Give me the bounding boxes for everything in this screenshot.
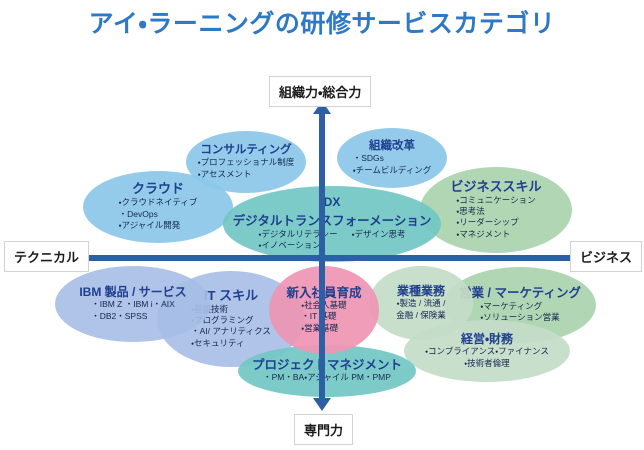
bubble-title: IT スキル — [204, 289, 258, 304]
bubble-item: ・技術者倫理 — [425, 358, 549, 369]
bubble-business-skill[interactable]: ビジネススキル ・コミュニケーション・思考法・リーダーシップ・マネジメント — [420, 167, 572, 253]
bubble-title: クラウド — [132, 182, 184, 197]
bubble-item: ・マーケティング — [480, 301, 559, 312]
diagram-canvas: アイ・ラーニングの研修サービスカテゴリ 組織力・総合力 専門力 テクニカル ビジ… — [0, 0, 644, 450]
bubble-title: IBM 製品 / サービス — [79, 286, 186, 300]
horizontal-axis-line — [40, 255, 598, 261]
bubble-item: ・DevOps — [119, 209, 198, 220]
bubble-item: ・PM・BA・アジャイル PM・PMP — [263, 372, 391, 383]
bubble-item: ・アセスメント — [198, 169, 294, 180]
bubble-item: ・AI/ アナリティクス — [191, 326, 271, 337]
axis-label-left: テクニカル — [4, 241, 89, 272]
bubble-item: ・コミュニケーション — [456, 195, 535, 206]
bubble-item: ・製造 / 流通 / — [396, 298, 446, 309]
arrow-down-icon — [313, 398, 331, 411]
bubble-consulting[interactable]: コンサルティング ・プロフェッショナル制度・アセスメント — [186, 131, 306, 193]
bubble-item: ・プロフェッショナル制度 — [198, 157, 294, 168]
bubble-items: ・IBM Z ・IBM i・AIX・DB2・SPSS — [91, 299, 175, 322]
bubble-item: ・クラウドネイティブ — [119, 197, 198, 208]
bubble-item: ・デジタルリテラシー — [259, 229, 338, 240]
bubble-items: ・SDGs・チームビルディング — [353, 153, 432, 176]
bubble-item: ・DB2・SPSS — [91, 311, 175, 322]
bubble-item: 金融 / 保険業 — [396, 310, 446, 321]
bubble-items: ・プロフェッショナル制度・アセスメント — [198, 157, 294, 180]
axis-label-right: ビジネス — [570, 241, 642, 272]
bubble-item: ・セキュリティ — [191, 338, 271, 349]
bubble-item: ・リーダーシップ — [456, 217, 535, 228]
bubble-title: ビジネススキル — [450, 180, 541, 195]
bubble-items: ・製造 / 流通 /金融 / 保険業 — [396, 298, 446, 321]
bubble-item: ・アジャイル開発 — [119, 220, 198, 231]
axis-label-top: 組織力・総合力 — [269, 76, 371, 107]
bubble-item: ・思考法 — [456, 206, 535, 217]
bubble-items: ・クラウドネイティブ・DevOps・アジャイル開発 — [119, 197, 198, 231]
bubble-items: ・コミュニケーション・思考法・リーダーシップ・マネジメント — [456, 195, 535, 241]
bubble-items: ・デジタルリテラシー ・デザイン思考 ・イノベーション — [259, 229, 406, 252]
bubble-title: プロジェクトマネジメント — [252, 358, 402, 372]
bubble-item: ・IBM Z ・IBM i・AIX — [91, 299, 175, 310]
bubble-ibm-products[interactable]: IBM 製品 / サービス ・IBM Z ・IBM i・AIX・DB2・SPSS — [55, 266, 211, 342]
bubble-items: ・PM・BA・アジャイル PM・PMP — [263, 372, 391, 383]
bubble-item: ・マネジメント — [456, 229, 535, 240]
bubble-title: DX — [324, 196, 341, 210]
bubble-item: ・デザイン思考 — [352, 229, 406, 240]
bubble-item: ・コンプライアンス・ファイナンス — [425, 346, 549, 357]
bubble-title: 営業 / マーケティング — [459, 286, 581, 300]
bubble-organizational-reform[interactable]: 組織改革 ・SDGs・チームビルディング — [337, 128, 447, 188]
bubble-items: ・コンプライアンス・ファイナンス・技術者倫理 — [425, 346, 549, 369]
bubble-title: コンサルティング — [200, 144, 291, 157]
bubble-item: ・チームビルディング — [353, 165, 432, 176]
bubble-management-finance[interactable]: 経営・財務 ・コンプライアンス・ファイナンス・技術者倫理 — [404, 320, 570, 382]
bubble-title: 組織改革 — [369, 140, 415, 153]
bubble-title: 業種業務 — [397, 285, 445, 299]
axis-label-bottom: 専門力 — [294, 414, 353, 445]
bubble-title: 経営・財務 — [461, 333, 513, 347]
bubble-subtitle: デジタルトランスフォーメーション — [233, 210, 432, 229]
bubble-dx[interactable]: DX デジタルトランスフォーメーション ・デジタルリテラシー ・デザイン思考 ・… — [223, 186, 441, 262]
bubble-item: ・イノベーション — [259, 240, 406, 251]
page-title: アイ・ラーニングの研修サービスカテゴリ — [0, 4, 644, 40]
bubble-item: ・SDGs — [353, 153, 432, 164]
